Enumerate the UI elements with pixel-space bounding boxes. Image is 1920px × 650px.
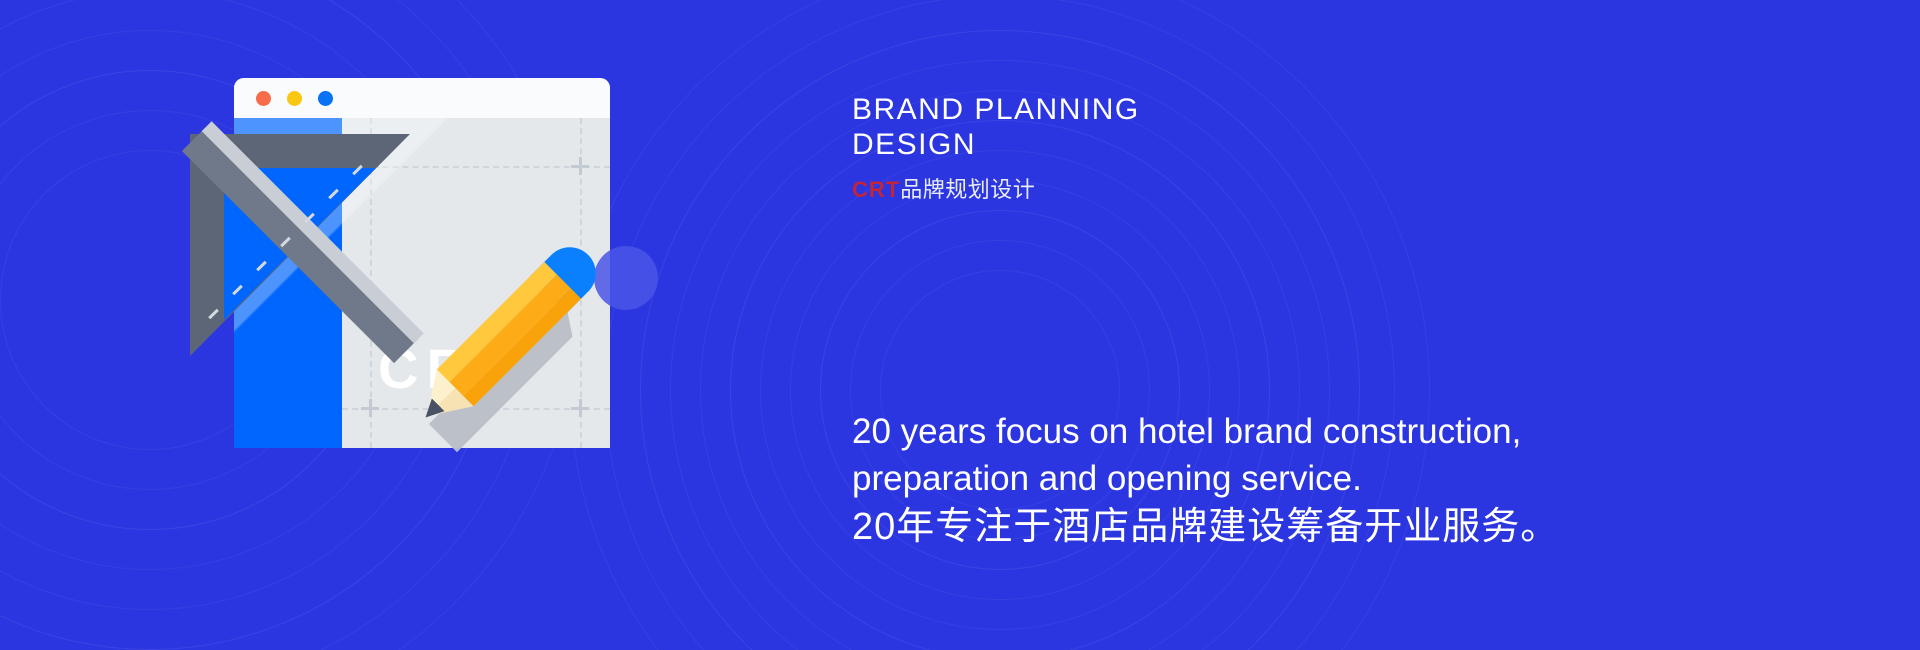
close-dot bbox=[256, 91, 271, 106]
tagline-chinese: 20年专注于酒店品牌建设筹备开业服务。 bbox=[852, 503, 1559, 551]
browser-title-bar bbox=[234, 78, 610, 118]
pencil-eraser-shadow bbox=[594, 246, 658, 310]
subheading-brand: CRT bbox=[852, 177, 900, 202]
banner-headline: BRAND PLANNING DESIGN bbox=[852, 92, 1140, 162]
brand-design-illustration: CRT bbox=[190, 78, 690, 458]
banner-text-block: BRAND PLANNING DESIGN CRT品牌规划设计 20 years… bbox=[852, 0, 1752, 650]
set-square-ruler-icon bbox=[190, 134, 410, 356]
brand-banner: CRT bbox=[0, 0, 1920, 650]
subheading-chinese: 品牌规划设计 bbox=[900, 177, 1035, 202]
banner-subheading: CRT品牌规划设计 bbox=[852, 172, 1035, 204]
maximize-dot bbox=[318, 91, 333, 106]
minimize-dot bbox=[287, 91, 302, 106]
tagline-english: 20 years focus on hotel brand constructi… bbox=[852, 408, 1712, 502]
